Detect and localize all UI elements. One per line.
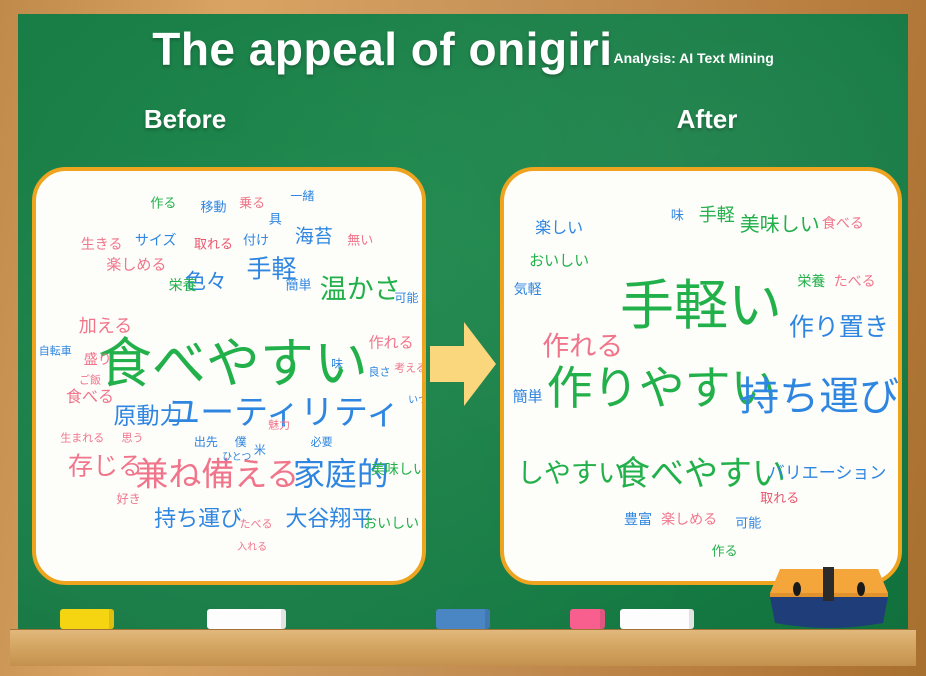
wordcloud-word: 魅力 xyxy=(268,420,290,431)
wordcloud-word: 温かさ xyxy=(320,276,401,303)
wordcloud-word: 味 xyxy=(671,210,684,223)
wordcloud-word: 手軽 xyxy=(699,207,735,225)
wordcloud-word: 加える xyxy=(79,318,132,336)
wordcloud-word: おいしい xyxy=(363,517,419,531)
wordcloud-word: ひとつ xyxy=(222,453,251,463)
wordcloud-word: ご飯 xyxy=(79,375,101,386)
wordcloud-word: 僕 xyxy=(235,436,247,448)
wordcloud-word: 取れる xyxy=(760,493,799,506)
wordcloud-word: 持ち運び xyxy=(154,509,242,531)
wordcloud-word: たべる xyxy=(240,518,273,529)
chalk-pink xyxy=(570,609,605,629)
wordcloud-word: 海苔 xyxy=(295,227,333,246)
wordcloud-word: 作る xyxy=(150,197,176,210)
chalk-yellow xyxy=(60,609,114,629)
wordcloud-word: 美味しい xyxy=(371,463,426,477)
wordcloud-word: 取れる xyxy=(194,238,233,251)
wordcloud-word: 食べる xyxy=(822,217,864,231)
slide-canvas: The appeal of onigiriAnalysis: AI Text M… xyxy=(0,0,926,676)
right-arrow-icon xyxy=(430,322,496,406)
column-label-before: Before xyxy=(85,104,285,135)
wordcloud-word: 可能 xyxy=(735,517,761,530)
wordcloud-word: 栄養 xyxy=(797,275,825,289)
wordcloud-word: 味 xyxy=(331,358,343,370)
wordcloud-word: 気軽 xyxy=(514,283,542,297)
wordcloud-word: 持ち運び xyxy=(739,377,899,417)
wordcloud-word: 無い xyxy=(347,234,373,247)
wordcloud-word: いつ xyxy=(408,396,426,406)
wordcloud-word: 豊富 xyxy=(624,513,652,527)
wordcloud-word: 出先 xyxy=(194,436,218,448)
page-title: The appeal of onigiri xyxy=(152,22,612,76)
chalk-white-2 xyxy=(620,609,694,629)
chalk-white-1 xyxy=(207,609,286,629)
wordcloud-word: 必要 xyxy=(311,436,333,447)
wordcloud-word: 思う xyxy=(122,432,144,443)
wordcloud-word: 簡単 xyxy=(285,279,311,292)
chalk-blue xyxy=(436,609,490,629)
page-subtitle: Analysis: AI Text Mining xyxy=(614,50,774,66)
wordcloud-word: 好き xyxy=(117,493,141,505)
wordcloud-word: 作れる xyxy=(369,336,414,351)
wordcloud-word: 存じる xyxy=(68,454,143,479)
wordcloud-word: 作り置き xyxy=(789,314,889,339)
wordcloud-word: 作る xyxy=(712,546,738,559)
wordcloud-word: たべる xyxy=(834,275,876,289)
header: The appeal of onigiriAnalysis: AI Text M… xyxy=(0,22,926,76)
wordcloud-word: 兼ね備える xyxy=(135,458,299,491)
bento-basket-icon xyxy=(766,567,892,629)
chalk-tray xyxy=(10,629,916,666)
wordcloud-word: 付け xyxy=(243,234,269,247)
wordcloud-word: 食べる xyxy=(66,389,114,405)
column-label-after: After xyxy=(607,104,807,135)
wordcloud-word: 大谷翔平 xyxy=(285,509,373,531)
wordcloud-word: 手軽い xyxy=(620,279,782,333)
wordcloud-word: 美味しい xyxy=(740,214,820,234)
wordcloud-word: 栄養 xyxy=(169,279,197,293)
wordcloud-word: 盛り xyxy=(84,353,112,367)
wordcloud-word: おいしい xyxy=(529,254,589,269)
wordcloud-word: 良さ xyxy=(369,366,391,377)
wordcloud-word: 食べやすい xyxy=(98,337,368,391)
wordcloud-word: 食べやすい xyxy=(616,457,786,491)
wordcloud-word: 生きる xyxy=(81,238,123,252)
wordcloud-word: 楽しい xyxy=(535,220,583,236)
wordcloud-word: 作れる xyxy=(542,334,623,361)
wordcloud-word: しやすい xyxy=(517,461,625,488)
wordcloud-word: 米 xyxy=(254,444,266,456)
wordcloud-word: 一緒 xyxy=(290,190,314,202)
wordcloud-before[interactable]: 食べやすいユーティリティ兼ね備える家庭的存じる温かさ手軽原動力持ち運び大谷翔平色… xyxy=(32,167,426,585)
wordcloud-word: バリエーション xyxy=(768,466,887,483)
wordcloud-word: 原動力 xyxy=(113,406,182,429)
wordcloud-word: 可能 xyxy=(395,292,419,304)
wordcloud-word: 考える xyxy=(394,362,426,373)
wordcloud-word: 入れる xyxy=(237,543,267,553)
wordcloud-word: 生まれる xyxy=(60,432,104,443)
wordcloud-word: 具 xyxy=(269,214,282,227)
wordcloud-after[interactable]: 手軽い作りやすい持ち運び食べやすいしやすい作れる作り置き美味しい手軽楽しいおいし… xyxy=(500,167,902,585)
wordcloud-word: 簡単 xyxy=(513,389,543,404)
wordcloud-word: 自転車 xyxy=(39,346,72,357)
wordcloud-word: サイズ xyxy=(135,234,177,248)
wordcloud-word: 楽しめる xyxy=(661,513,717,527)
wordcloud-word: 乗る xyxy=(239,197,265,210)
wordcloud-word: 楽しめる xyxy=(106,258,166,273)
wordcloud-word: 移動 xyxy=(201,201,227,214)
